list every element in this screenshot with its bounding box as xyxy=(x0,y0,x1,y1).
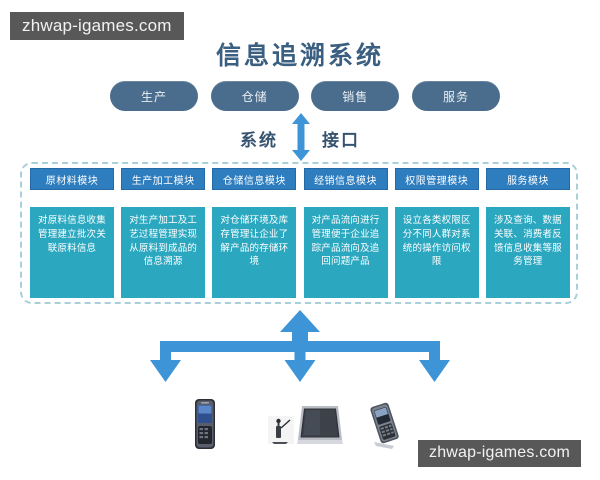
module-description: 对产品流向进行管理便于企业追踪产品流向及追回问题产品 xyxy=(304,207,388,298)
module-description: 对生产加工及工艺过程管理实现从原料到成品的信息溯源 xyxy=(121,207,205,298)
module-description: 设立各类权限区分不同人群对系统的操作访问权限 xyxy=(395,207,479,298)
connector-label-left: 系统 xyxy=(240,126,278,151)
module-distribution-info[interactable]: 经销信息模块 对产品流向进行管理便于企业追踪产品流向及追回问题产品 xyxy=(304,168,388,298)
branch-arrow-icon xyxy=(150,310,450,395)
module-permission-management[interactable]: 权限管理模块 设立各类权限区分不同人群对系统的操作访问权限 xyxy=(395,168,479,298)
module-header: 服务模块 xyxy=(486,168,570,190)
top-channel-row: 生产 仓储 销售 服务 xyxy=(110,81,500,111)
module-service[interactable]: 服务模块 涉及查询、数据关联、消费者反馈信息收集等服务管理 xyxy=(486,168,570,298)
watermark-bottom-right: zhwap-igames.com xyxy=(418,440,581,467)
module-header: 仓储信息模块 xyxy=(212,168,296,190)
modules-grid: 原材料模块 对原料信息收集管理建立批次关联原料信息 生产加工模块 对生产加工及工… xyxy=(30,168,570,298)
module-description: 对原料信息收集管理建立批次关联原料信息 xyxy=(30,207,114,298)
page-title: 信息追溯系统 xyxy=(0,36,600,72)
module-production-processing[interactable]: 生产加工模块 对生产加工及工艺过程管理实现从原料到成品的信息溯源 xyxy=(121,168,205,298)
channel-pill-service[interactable]: 服务 xyxy=(412,81,500,111)
channel-pill-label: 仓储 xyxy=(242,88,268,105)
diagram-canvas: zhwap-igames.com 信息追溯系统 生产 仓储 销售 服务 系统 接… xyxy=(0,0,600,480)
smartphone-icon xyxy=(192,398,218,450)
connector-label-right: 接口 xyxy=(322,126,360,151)
module-description: 对仓储环境及库存管理让企业了解产品的存储环境 xyxy=(212,207,296,298)
terminal-devices-row xyxy=(150,392,450,450)
module-header: 经销信息模块 xyxy=(304,168,388,190)
pda-phone-icon xyxy=(368,402,402,450)
channel-pill-production[interactable]: 生产 xyxy=(110,81,198,111)
module-header: 权限管理模块 xyxy=(395,168,479,190)
module-description: 涉及查询、数据关联、消费者反馈信息收集等服务管理 xyxy=(486,207,570,298)
module-header: 生产加工模块 xyxy=(121,168,205,190)
channel-pill-label: 生产 xyxy=(141,88,167,105)
module-warehouse-info[interactable]: 仓储信息模块 对仓储环境及库存管理让企业了解产品的存储环境 xyxy=(212,168,296,298)
module-raw-material[interactable]: 原材料模块 对原料信息收集管理建立批次关联原料信息 xyxy=(30,168,114,298)
module-header: 原材料模块 xyxy=(30,168,114,190)
channel-pill-sales[interactable]: 销售 xyxy=(311,81,399,111)
channel-pill-warehousing[interactable]: 仓储 xyxy=(211,81,299,111)
channel-pill-label: 销售 xyxy=(342,88,368,105)
connector-labels: 系统 接口 xyxy=(0,126,600,151)
channel-pill-label: 服务 xyxy=(443,88,469,105)
laptop-icon xyxy=(268,400,346,450)
